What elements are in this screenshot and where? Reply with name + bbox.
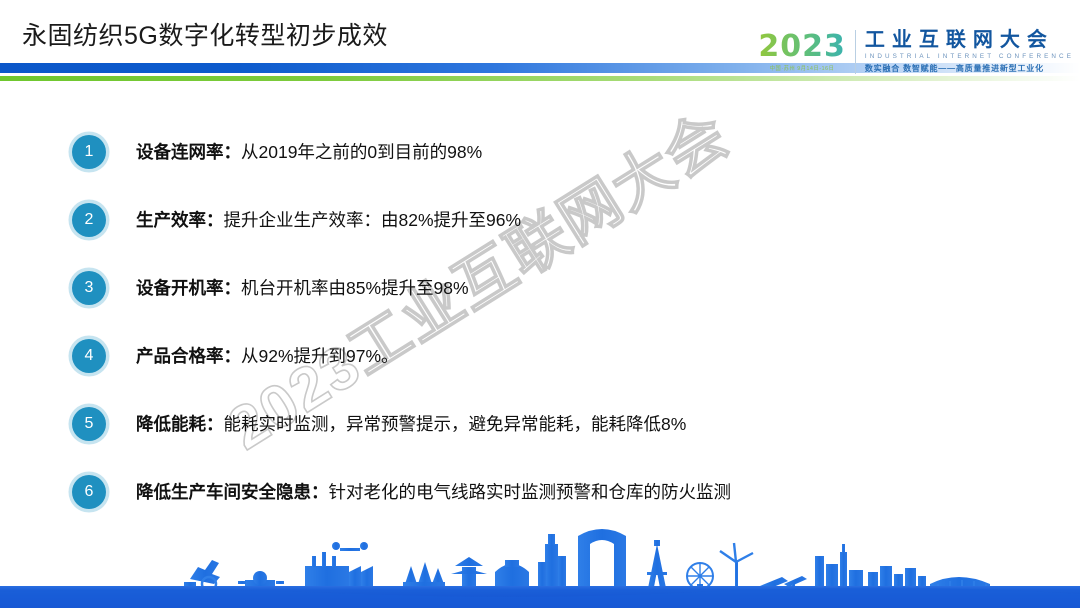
- bullet-number-badge: 3: [72, 271, 106, 305]
- bullet-body: 从2019年之前的0到目前的98%: [241, 142, 482, 162]
- skyline-graphic: [0, 522, 1080, 608]
- bullet-text: 设备开机率：机台开机率由85%提升至98%: [136, 277, 469, 300]
- bullet-text: 产品合格率：从92%提升到97%。: [136, 345, 399, 368]
- logo-year: 2023: [758, 32, 846, 62]
- bullet-text: 设备连网率：从2019年之前的0到目前的98%: [136, 141, 482, 164]
- bullet-label: 降低能耗：: [136, 414, 224, 434]
- logo-year-subtitle: 中国·苏州 9月14日-16日: [770, 65, 835, 72]
- slide-canvas: 永固纺织5G数字化转型初步成效 2023 中国·苏州 9月14日-16日 工业互…: [0, 0, 1080, 608]
- bullet-label: 产品合格率：: [136, 346, 241, 366]
- bullet-label: 设备开机率：: [136, 278, 241, 298]
- bullet-text: 降低生产车间安全隐患：针对老化的电气线路实时监测预警和仓库的防火监测: [136, 481, 731, 504]
- bullet-number-badge: 6: [72, 475, 106, 509]
- skyline-buildings: [184, 529, 990, 591]
- list-item: 6降低生产车间安全隐患：针对老化的电气线路实时监测预警和仓库的防火监测: [0, 458, 1080, 526]
- bullet-list: 1设备连网率：从2019年之前的0到目前的98%2生产效率：提升企业生产效率：由…: [0, 118, 1080, 526]
- conference-logo: 2023 中国·苏州 9月14日-16日 工业互联网大会 INDUSTRIAL …: [758, 24, 1074, 80]
- bullet-number-badge: 1: [72, 135, 106, 169]
- bullet-label: 降低生产车间安全隐患：: [136, 482, 329, 502]
- bullet-text: 生产效率：提升企业生产效率：由82%提升至96%: [136, 209, 521, 232]
- bullet-number-badge: 2: [72, 203, 106, 237]
- list-item: 2生产效率：提升企业生产效率：由82%提升至96%: [0, 186, 1080, 254]
- bullet-body: 提升企业生产效率：由82%提升至96%: [224, 210, 522, 230]
- bullet-body: 能耗实时监测，异常预警提示，避免异常能耗，能耗降低8%: [224, 414, 687, 434]
- list-item: 3设备开机率：机台开机率由85%提升至98%: [0, 254, 1080, 322]
- bullet-body: 从92%提升到97%。: [241, 346, 399, 366]
- logo-year-block: 2023 中国·苏州 9月14日-16日: [758, 32, 855, 72]
- bullet-body: 机台开机率由85%提升至98%: [241, 278, 469, 298]
- logo-separator: [855, 30, 856, 74]
- bullet-number-badge: 4: [72, 339, 106, 373]
- bullet-label: 生产效率：: [136, 210, 224, 230]
- logo-slogan: 数实融合 数智赋能——高质量推进新型工业化: [865, 63, 1074, 74]
- logo-name-en: INDUSTRIAL INTERNET CONFERENCE: [865, 53, 1074, 60]
- list-item: 5降低能耗：能耗实时监测，异常预警提示，避免异常能耗，能耗降低8%: [0, 390, 1080, 458]
- bullet-body: 针对老化的电气线路实时监测预警和仓库的防火监测: [329, 482, 732, 502]
- list-item: 4产品合格率：从92%提升到97%。: [0, 322, 1080, 390]
- bullet-label: 设备连网率：: [136, 142, 241, 162]
- bullet-text: 降低能耗：能耗实时监测，异常预警提示，避免异常能耗，能耗降低8%: [136, 413, 686, 436]
- page-title: 永固纺织5G数字化转型初步成效: [22, 16, 388, 52]
- logo-name-cn: 工业互联网大会: [865, 30, 1074, 51]
- list-item: 1设备连网率：从2019年之前的0到目前的98%: [0, 118, 1080, 186]
- bullet-number-badge: 5: [72, 407, 106, 441]
- logo-name-block: 工业互联网大会 INDUSTRIAL INTERNET CONFERENCE 数…: [865, 30, 1074, 74]
- footer-skyline: [0, 522, 1080, 608]
